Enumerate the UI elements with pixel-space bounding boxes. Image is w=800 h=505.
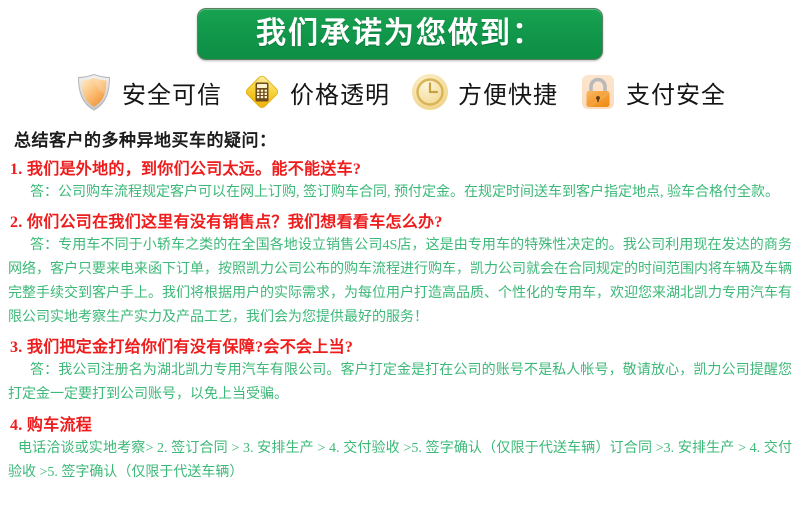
shield-icon (74, 72, 114, 112)
banner-container: 我们承诺为您做到： (0, 0, 800, 60)
feature-label-payment: 支付安全 (626, 75, 726, 110)
feature-row: 安全可信 (0, 60, 800, 118)
faq-lead: 总结客户的多种异地买车的疑问： (14, 126, 794, 151)
faq-flow-title: 4. 购车流程 (10, 411, 794, 435)
feature-label-price: 价格透明 (290, 75, 390, 110)
faq-flow-text: 电话洽谈或实地考察> 2. 签订合同 > 3. 安排生产 > 4. 交付验收 >… (8, 437, 792, 485)
promise-faq-page: 我们承诺为您做到： (0, 0, 800, 505)
feature-item-price: 价格透明 (242, 72, 390, 112)
feature-label-security: 安全可信 (122, 75, 222, 110)
feature-item-security: 安全可信 (74, 72, 222, 112)
clock-icon (410, 72, 450, 112)
lock-icon (578, 72, 618, 112)
faq-body: 总结客户的多种异地买车的疑问： 1. 我们是外地的，到你们公司太远。能不能送车?… (0, 118, 800, 485)
faq-answer-1: 答：公司购车流程规定客户可以在网上订购, 签订购车合同, 预付定金。在规定时间送… (8, 181, 792, 205)
faq-question-2: 2. 你们公司在我们这里有没有销售点？我们想看看车怎么办? (10, 208, 794, 232)
feature-item-payment: 支付安全 (578, 72, 726, 112)
faq-answer-3: 答：我公司注册名为湖北凯力专用汽车有限公司。客户打定金是打在公司的账号不是私人帐… (8, 359, 792, 407)
banner-title: 我们承诺为您做到： (256, 19, 544, 49)
promise-banner: 我们承诺为您做到： (197, 8, 603, 60)
faq-question-1: 1. 我们是外地的，到你们公司太远。能不能送车? (10, 155, 794, 179)
faq-answer-2: 答：专用车不同于小轿车之类的在全国各地设立销售公司4S店，这是由专用车的特殊性决… (8, 234, 792, 330)
faq-question-3: 3. 我们把定金打给你们有没有保障?会不会上当? (10, 333, 794, 357)
calculator-icon (242, 72, 282, 112)
feature-label-convenience: 方便快捷 (458, 75, 558, 110)
feature-item-convenience: 方便快捷 (410, 72, 558, 112)
